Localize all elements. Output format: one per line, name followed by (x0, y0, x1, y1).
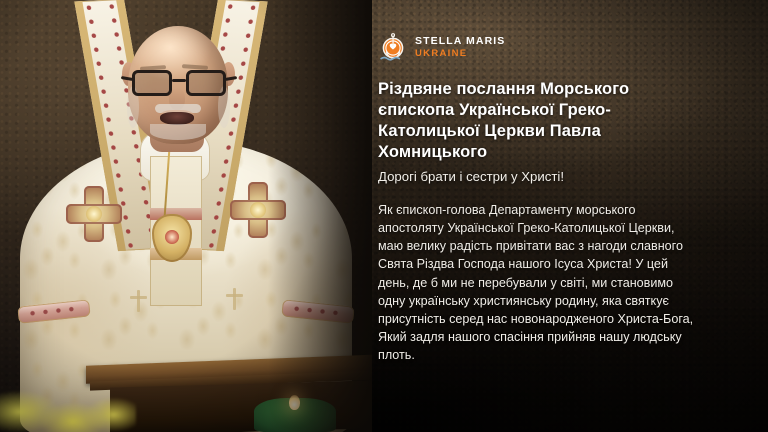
brand-name: STELLA MARIS (415, 36, 505, 47)
message-body: Як єпископ-голова Департаменту морського… (378, 201, 698, 364)
photo-edge-fade (0, 0, 372, 432)
greeting-line: Дорогі брати і сестри у Христі! (378, 168, 708, 186)
message-content: STELLA MARIS UKRAINE Різдвяне послання М… (378, 0, 768, 432)
stella-maris-anchor-heart-icon (378, 32, 408, 62)
bishop-photo (0, 0, 372, 432)
page-title: Різдвяне послання Морського єпископа Укр… (378, 79, 678, 163)
brand-region: UKRAINE (415, 49, 505, 59)
stella-maris-logo[interactable]: STELLA MARIS UKRAINE (378, 32, 505, 62)
christmas-message-card: STELLA MARIS UKRAINE Різдвяне послання М… (0, 0, 768, 432)
